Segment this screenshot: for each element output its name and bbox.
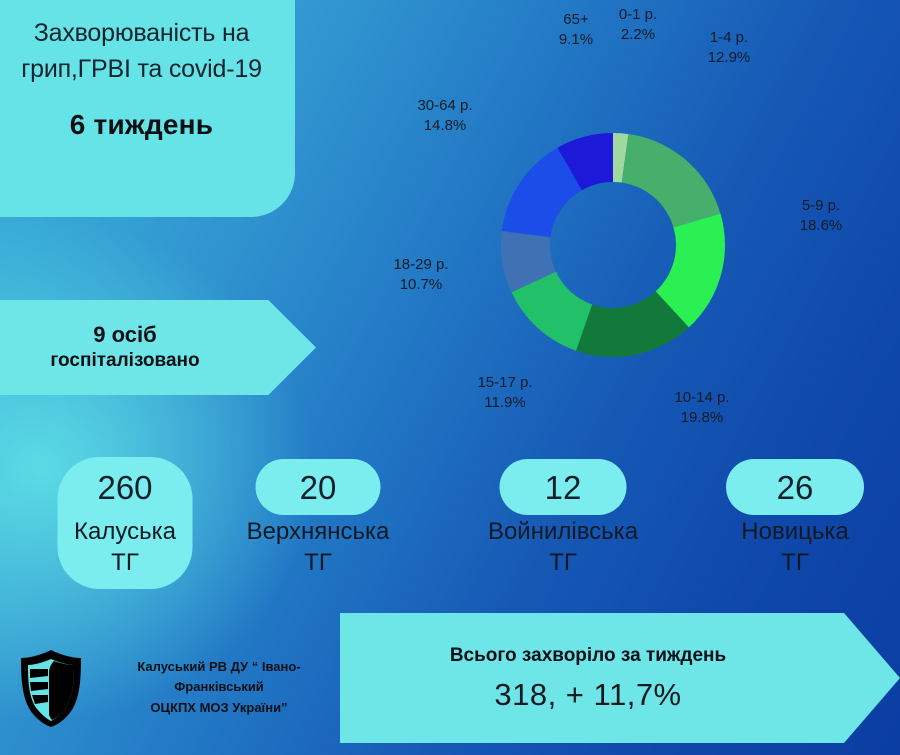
community-name: Верхнянська ТГ xyxy=(223,504,413,578)
community-name: Войнилівська ТГ xyxy=(468,504,658,578)
community-card-kaluska: 260 Калуська ТГ xyxy=(30,455,220,578)
weekly-total-label: Всього захворіло за тиждень xyxy=(450,643,726,670)
community-name: Калуська ТГ xyxy=(30,504,220,578)
community-card-novytska: 26 Новицька ТГ xyxy=(700,455,890,578)
community-card-verkhnianska: 20 Верхнянська ТГ xyxy=(223,455,413,578)
community-value: 12 xyxy=(468,455,658,504)
community-card-voinylivska: 12 Войнилівська ТГ xyxy=(468,455,658,578)
infographic-poster: Захворюваність на грип,ГРВІ та covid-19 … xyxy=(0,0,900,755)
weekly-total-value: 318, + 11,7% xyxy=(494,677,681,713)
community-stats-row: 260 Калуська ТГ 20 Верхнянська ТГ 12 Вой… xyxy=(0,455,900,595)
community-name: Новицька ТГ xyxy=(700,504,890,578)
community-value: 26 xyxy=(700,455,890,504)
footer: Калуський РВ ДУ “ Івано-Франківський ОЦК… xyxy=(0,620,340,755)
donut-labels: 65+ 9.1% 0-1 р. 2.2% 1-4 р. 12.9% 5-9 р.… xyxy=(0,0,900,430)
organization-name: Калуський РВ ДУ “ Івано-Франківський ОЦК… xyxy=(98,657,340,717)
shield-icon xyxy=(18,649,84,727)
community-value: 260 xyxy=(30,455,220,504)
donut-label-5-9: 5-9 р. 18.6% xyxy=(770,196,872,236)
donut-label-30-64: 30-64 р. 14.8% xyxy=(392,96,498,136)
donut-label-18-29: 18-29 р. 10.7% xyxy=(368,255,474,295)
donut-label-10-14: 10-14 р. 19.8% xyxy=(648,388,756,428)
weekly-total-banner: Всього захворіло за тиждень 318, + 11,7% xyxy=(340,613,900,743)
community-value: 20 xyxy=(223,455,413,504)
donut-label-15-17: 15-17 р. 11.9% xyxy=(452,373,558,413)
donut-label-0-1: 0-1 р. 2.2% xyxy=(594,5,682,45)
donut-label-1-4: 1-4 р. 12.9% xyxy=(678,28,780,68)
